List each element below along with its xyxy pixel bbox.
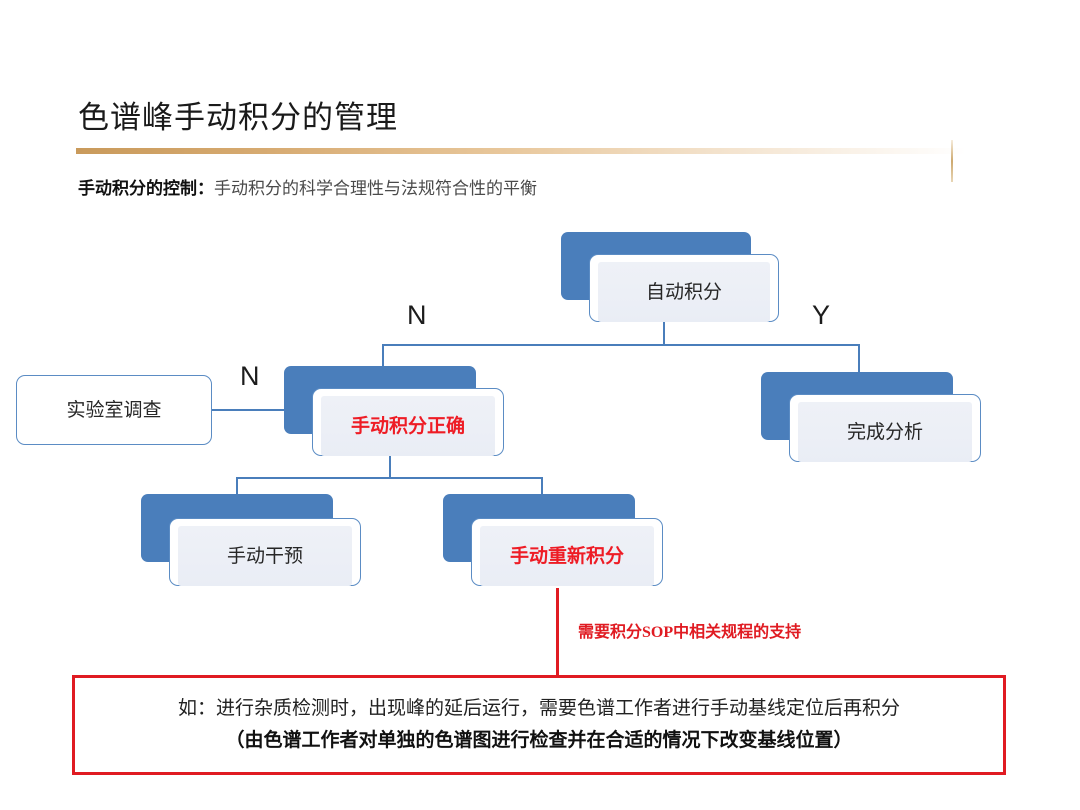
node-label: 自动积分 — [646, 283, 722, 302]
node-lab-investigation[interactable]: 实验室调查 — [16, 375, 212, 445]
node-label: 手动积分正确 — [351, 417, 465, 436]
node-inner-fill: 手动干预 — [178, 526, 352, 586]
node-label: 完成分析 — [847, 423, 923, 442]
node-inner-fill: 手动积分正确 — [321, 396, 495, 456]
node-manual-intervention[interactable]: 手动干预 — [141, 494, 361, 586]
node-inner-fill: 手动重新积分 — [480, 526, 654, 586]
node-card: 自动积分 — [589, 254, 779, 322]
branch-label-n-lab: N — [240, 363, 260, 390]
node-card: 手动干预 — [169, 518, 361, 586]
node-auto-integration[interactable]: 自动积分 — [561, 232, 779, 322]
annotation-sop-requirement: 需要积分SOP中相关规程的支持 — [578, 622, 801, 644]
flowchart: N Y N 自动积分 实验室调查 手动积分正确 — [0, 0, 1080, 810]
connector-auto-down — [663, 320, 665, 345]
node-label: 实验室调查 — [66, 401, 161, 420]
callout-box: 如：进行杂质检测时，出现峰的延后运行，需要色谱工作者进行手动基线定位后再积分 （… — [72, 675, 1006, 775]
node-card: 实验室调查 — [16, 375, 212, 445]
node-card: 完成分析 — [789, 394, 981, 462]
node-manual-integration-correct[interactable]: 手动积分正确 — [284, 366, 504, 456]
slide-canvas: 色谱峰手动积分的管理 手动积分的控制：手动积分的科学合理性与法规符合性的平衡 N… — [0, 0, 1080, 810]
connector-reintegrate-red-down — [556, 588, 559, 677]
node-label: 手动重新积分 — [510, 547, 624, 566]
connector-level2-horizontal — [236, 477, 542, 479]
connector-level1-horizontal — [382, 344, 860, 346]
node-card: 手动重新积分 — [471, 518, 663, 586]
branch-label-y-right: Y — [812, 302, 830, 329]
node-manual-reintegration[interactable]: 手动重新积分 — [443, 494, 663, 586]
branch-label-n-left: N — [407, 302, 427, 329]
node-inner-fill: 完成分析 — [798, 402, 972, 462]
callout-line-2: （由色谱工作者对单独的色谱图进行检查并在合适的情况下改变基线位置） — [225, 725, 852, 757]
connector-level1-right-drop — [858, 344, 860, 372]
node-label: 手动干预 — [227, 547, 303, 566]
callout-line-1: 如：进行杂质检测时，出现峰的延后运行，需要色谱工作者进行手动基线定位后再积分 — [178, 693, 900, 725]
node-inner-fill: 自动积分 — [598, 262, 770, 322]
node-card: 手动积分正确 — [312, 388, 504, 456]
node-complete-analysis[interactable]: 完成分析 — [761, 372, 981, 462]
